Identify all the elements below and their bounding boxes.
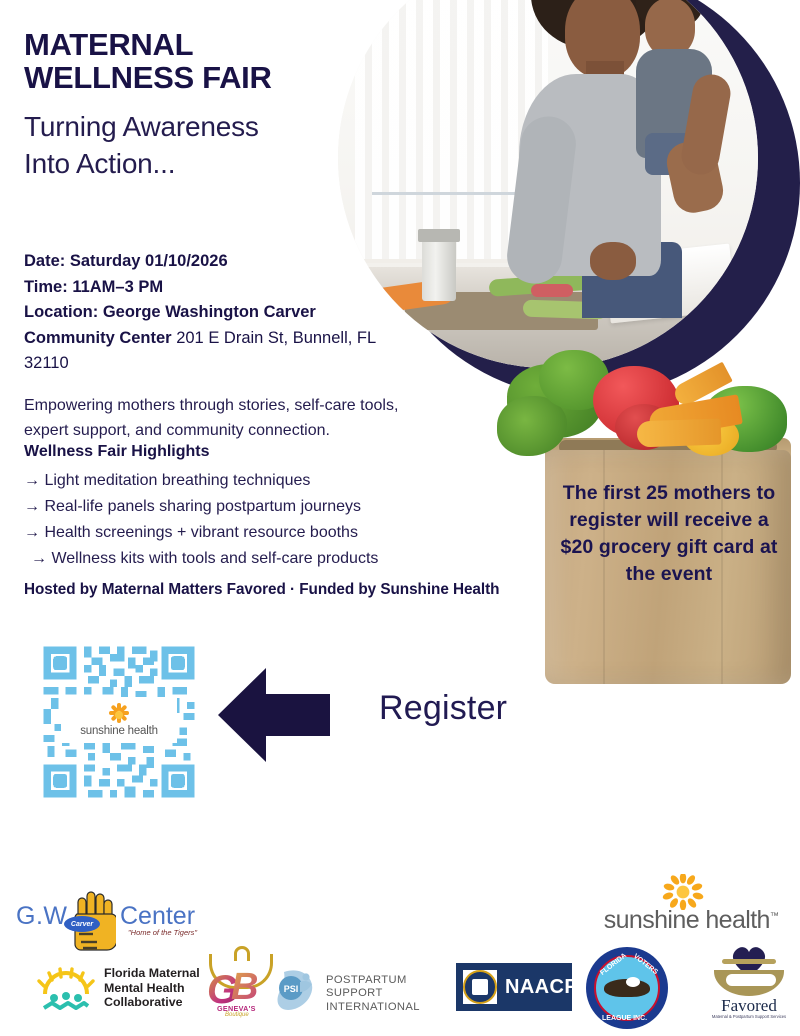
fmh-line-3: Collaborative (104, 995, 200, 1010)
partner-logo-naacp: NAACP (456, 963, 572, 1011)
partner-logo-florida-voters-league: FLORIDA VOTERS LEAGUE INC. (586, 947, 668, 1029)
fvl-ring-bottom: LEAGUE INC. (602, 1015, 647, 1022)
halo-band-icon (722, 959, 776, 964)
location-address-line-1: 201 E Drain St, (176, 329, 288, 347)
event-date-row: Date: Saturday 01/10/2026 (24, 249, 384, 275)
event-location-row: Location: George Washington Carver Commu… (24, 300, 384, 377)
time-value: 11AM–3 PM (72, 278, 163, 296)
favored-tagline: Maternal & Postpartum Support Services (706, 1014, 792, 1019)
sunburst-icon (109, 703, 129, 723)
list-item: → Light meditation breathing techniques (24, 468, 544, 494)
naacp-wordmark: NAACP (505, 976, 578, 999)
page-subtitle: Turning Awareness Into Action... (24, 108, 364, 182)
psi-name: POSTPARTUM SUPPORT INTERNATIONAL (326, 974, 446, 1014)
fmh-line-1: Florida Maternal (104, 966, 200, 981)
location-label: Location: (24, 303, 98, 321)
qr-logo-label: sunshine health (80, 725, 158, 737)
date-value: Saturday 01/10/2026 (70, 252, 228, 270)
title-line-2: WELLNESS FAIR (24, 61, 354, 94)
gw-tagline: "Home of the Tigers" (128, 928, 197, 937)
spice-jar (422, 238, 456, 301)
grocery-bag-graphic: The first 25 mothers to register will re… (545, 392, 791, 684)
partner-logo-florida-maternal-mental-health: Florida Maternal Mental Health Collabora… (32, 960, 212, 1016)
favored-wordmark: Favored (706, 996, 792, 1016)
psi-line-2: INTERNATIONAL (326, 1001, 446, 1014)
partner-logo-postpartum-support-international: PSI POSTPARTUM SUPPORT INTERNATIONAL (276, 968, 446, 1010)
highlights-list: → Light meditation breathing techniques … (24, 468, 544, 572)
gw-text-right: Center (120, 902, 195, 931)
carrot-icon (637, 419, 722, 448)
sun-waves-icon (32, 964, 100, 1012)
subtitle-line-1: Turning Awareness (24, 108, 364, 145)
left-arrow-icon (218, 668, 330, 762)
title-line-1: MATERNAL (24, 28, 354, 61)
carver-badge: Carver (64, 916, 100, 932)
window-frame (372, 192, 532, 195)
list-item: → Real-life panels sharing postpartum jo… (24, 494, 544, 520)
list-item: → Wellness kits with tools and self-care… (24, 546, 544, 572)
fmh-line-2: Mental Health (104, 981, 200, 996)
gb-monogram-b: B (231, 966, 258, 1009)
hero-photo-mother-and-baby (338, 0, 758, 368)
register-label[interactable]: Register (379, 689, 507, 728)
sunshine-health-wordmark: sunshine health™ (600, 906, 782, 935)
qr-code[interactable]: sunshine health (33, 643, 205, 801)
sunburst-icon (662, 874, 704, 910)
hero-artwork (330, 0, 800, 402)
mission-blurb: Empowering mothers through stories, self… (24, 393, 444, 443)
partner-logo-genevas-boutique: G B GENEVA'S Boutique (199, 952, 275, 1024)
highlights-heading: Wellness Fair Highlights (24, 443, 210, 461)
psi-mark-icon: PSI (276, 968, 320, 1010)
svg-text:PSI: PSI (284, 984, 299, 994)
radish-icon (531, 284, 573, 297)
sunshine-health-text: sunshine health (604, 906, 770, 934)
time-label: Time: (24, 278, 68, 296)
naacp-seal-core (472, 979, 488, 995)
qr-center-logo: sunshine health (61, 697, 177, 743)
fvl-ring-top-left: FLORIDA (599, 952, 628, 977)
gb-subtitle: Boutique (225, 1012, 249, 1018)
trademark-symbol: ™ (770, 911, 778, 921)
naacp-seal-ring (463, 970, 497, 1004)
event-time-row: Time: 11AM–3 PM (24, 275, 384, 301)
naacp-seal-icon (463, 970, 497, 1004)
promo-text: The first 25 mothers to register will re… (553, 480, 785, 588)
psi-line-1: POSTPARTUM SUPPORT (326, 974, 446, 1001)
page-title: MATERNAL WELLNESS FAIR (24, 28, 354, 94)
list-item: → Health screenings + vibrant resource b… (24, 520, 544, 546)
flyer-page: The first 25 mothers to register will re… (0, 0, 800, 1036)
partner-logo-gw-carver-center: G.W. Carver Center "Home of the Tigers" (16, 896, 206, 942)
fmh-name: Florida Maternal Mental Health Collabora… (104, 966, 200, 1010)
mother-hand (590, 242, 636, 280)
hosted-funded-line: Hosted by Maternal Matters Favored · Fun… (24, 581, 564, 599)
fvl-ring-top-right: VOTERS (632, 953, 659, 976)
partner-logo-favored: Favored Maternal & Postpartum Support Se… (706, 944, 792, 1028)
hand-highlight (726, 974, 776, 986)
fvl-ring-text: FLORIDA VOTERS LEAGUE INC. (586, 947, 668, 1029)
date-label: Date: (24, 252, 65, 270)
subtitle-line-2: Into Action... (24, 145, 364, 182)
spice-jar-lid (418, 229, 460, 242)
event-details: Date: Saturday 01/10/2026 Time: 11AM–3 P… (24, 249, 384, 377)
partner-logo-sunshine-health: sunshine health™ (600, 874, 782, 926)
produce-cluster (497, 360, 797, 480)
